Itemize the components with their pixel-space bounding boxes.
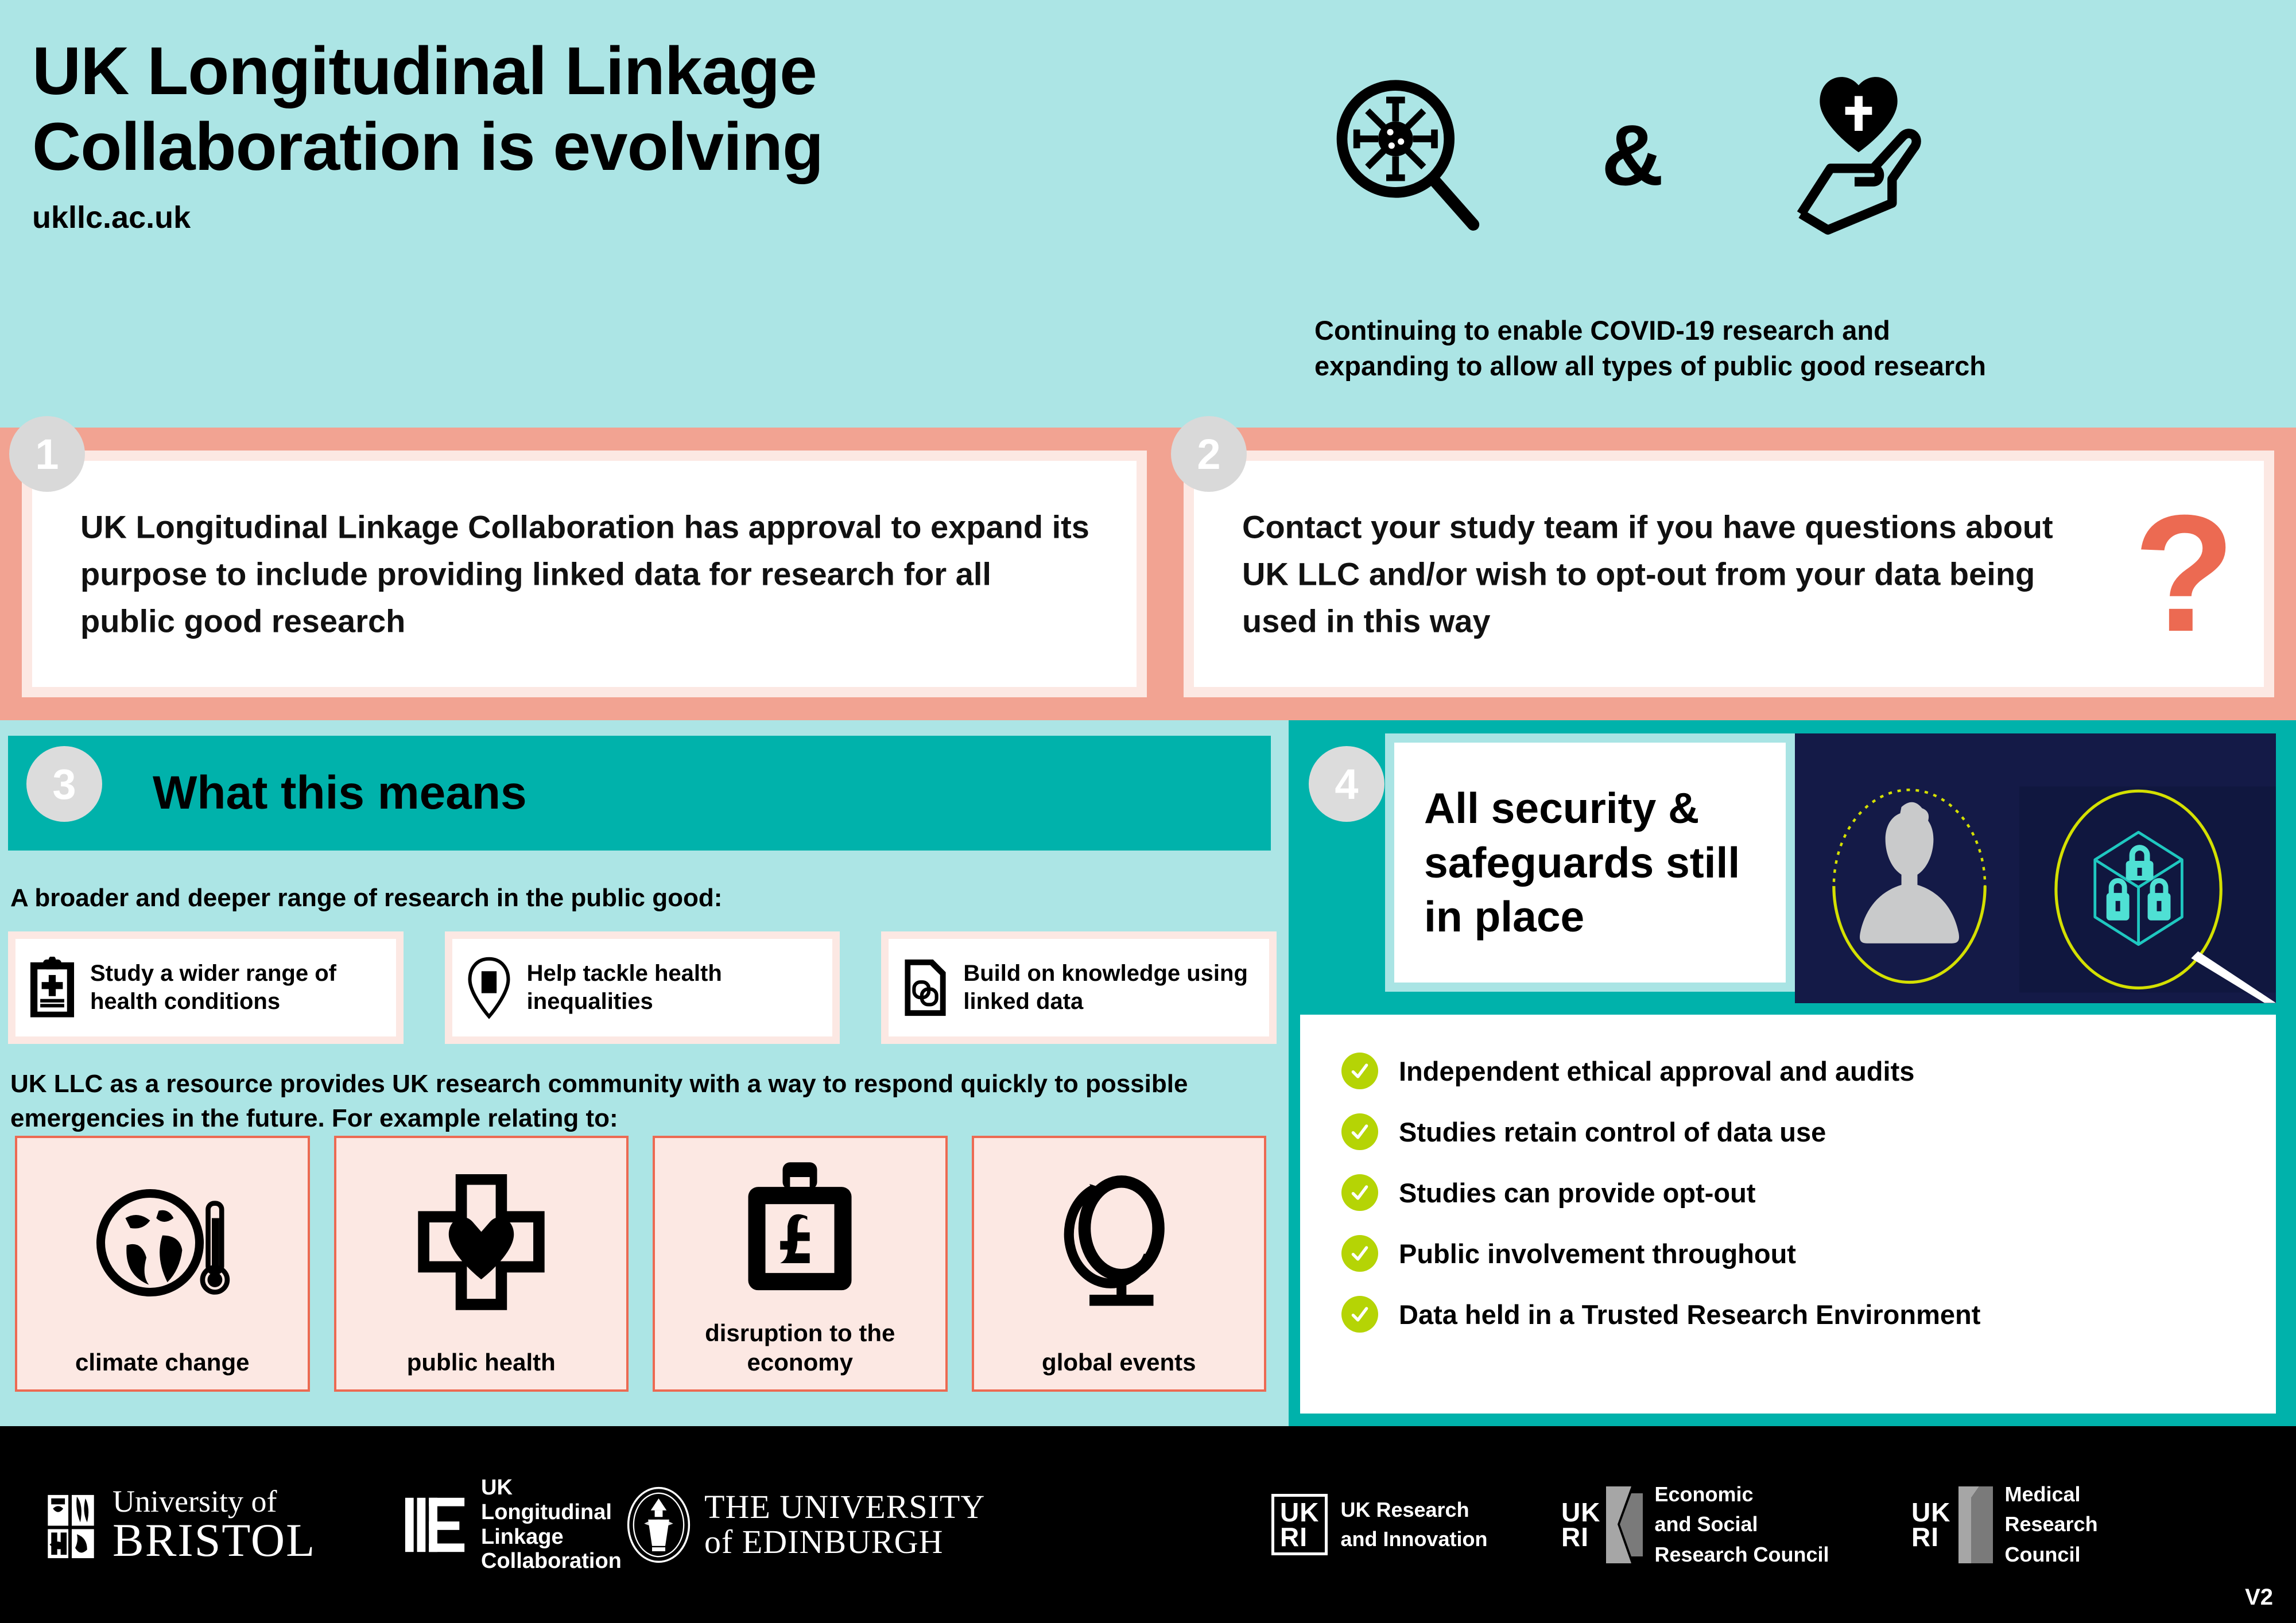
row-one-band: UK Longitudinal Linkage Collaboration ha… bbox=[0, 428, 2296, 720]
mrc-line-3: Council bbox=[2004, 1540, 2097, 1570]
footer-logo-bar: University of BRISTOL UK Longitudinal Li… bbox=[0, 1426, 2296, 1623]
list-item-label: Independent ethical approval and audits bbox=[1399, 1055, 1914, 1087]
ukri-logo: UK RI UK Research and Innovation bbox=[1271, 1426, 1487, 1623]
list-item: Studies retain control of data use bbox=[1341, 1113, 2276, 1150]
ukri-mark-top: UK bbox=[1280, 1500, 1319, 1524]
safeguard-checklist: Independent ethical approval and audits … bbox=[1300, 1015, 2276, 1414]
section-number-badge-4: 4 bbox=[1309, 746, 1384, 822]
university-of-bristol-logo: University of BRISTOL bbox=[46, 1426, 316, 1623]
esrc-mark-bottom: RI bbox=[1561, 1525, 1600, 1549]
bristol-line-1: University of bbox=[113, 1486, 316, 1517]
university-of-edinburgh-logo: THE UNIVERSITY of EDINBURGH bbox=[626, 1426, 985, 1623]
example-card: disruption to the economy bbox=[653, 1136, 948, 1392]
section-three-lead-text-2: UK LLC as a resource provides UK researc… bbox=[10, 1067, 1221, 1136]
section-four-title-frame: All security & safeguards still in place bbox=[1385, 733, 1795, 992]
benefit-card: Build on knowledge using linked data bbox=[881, 931, 1277, 1044]
esrc-logo: UK RI Economic and Social Research Counc… bbox=[1561, 1426, 1829, 1623]
section-four-title: All security & safeguards still in place bbox=[1394, 743, 1786, 983]
ukri-mark: UK RI bbox=[1271, 1494, 1328, 1555]
mrc-chevron-icon bbox=[1956, 1486, 1993, 1563]
example-card: climate change bbox=[15, 1136, 310, 1392]
virus-magnifier-icon bbox=[1314, 72, 1498, 238]
title-block: UK Longitudinal Linkage Collaboration is… bbox=[32, 33, 1238, 235]
globe-stand-icon bbox=[974, 1138, 1265, 1348]
edinburgh-line-1: THE UNIVERSITY bbox=[704, 1490, 985, 1524]
header-caption: Continuing to enable COVID-19 research a… bbox=[1314, 313, 2267, 384]
esrc-line-3: Research Council bbox=[1654, 1540, 1829, 1570]
example-card: global events bbox=[972, 1136, 1267, 1392]
section-number-badge-3: 3 bbox=[26, 746, 102, 822]
linked-document-icon bbox=[898, 957, 953, 1019]
llc-mark-icon bbox=[402, 1491, 470, 1559]
heart-in-hand-icon bbox=[1767, 72, 1950, 238]
section-four: All security & safeguards still in place bbox=[1289, 720, 2296, 1426]
page-title-line-1: UK Longitudinal Linkage bbox=[32, 33, 1238, 109]
page-title-line-2: Collaboration is evolving bbox=[32, 109, 1238, 185]
section-three-title: What this means bbox=[153, 766, 527, 820]
header-caption-line-2: expanding to allow all types of public g… bbox=[1314, 348, 2267, 384]
ukri-line-2: and Innovation bbox=[1340, 1525, 1487, 1554]
example-card-row: climate change public health bbox=[15, 1136, 1266, 1392]
list-item-label: Studies retain control of data use bbox=[1399, 1116, 1826, 1148]
mrc-logo: UK RI Medical Research Council bbox=[1911, 1426, 2098, 1623]
ukri-line-1: UK Research bbox=[1340, 1496, 1487, 1524]
section-three: What this means A broader and deeper ran… bbox=[0, 720, 1283, 1426]
mrc-mark-top: UK bbox=[1911, 1500, 1950, 1524]
mrc-mark-bottom: RI bbox=[1911, 1525, 1950, 1549]
esrc-ukri-mark: UK RI bbox=[1561, 1500, 1600, 1549]
example-label: disruption to the economy bbox=[655, 1319, 945, 1377]
check-icon bbox=[1341, 1053, 1378, 1089]
benefit-label: Study a wider range of health conditions bbox=[90, 960, 396, 1016]
security-illustration bbox=[1795, 733, 2276, 1003]
list-item: Independent ethical approval and audits bbox=[1341, 1053, 2276, 1089]
list-item-label: Data held in a Trusted Research Environm… bbox=[1399, 1299, 1980, 1330]
list-item: Data held in a Trusted Research Environm… bbox=[1341, 1296, 2276, 1333]
section-one-body: UK Longitudinal Linkage Collaboration ha… bbox=[80, 503, 1091, 644]
list-item-label: Public involvement throughout bbox=[1399, 1238, 1796, 1269]
edinburgh-line-2: of EDINBURGH bbox=[704, 1525, 985, 1559]
version-tag: V2 bbox=[2245, 1585, 2273, 1610]
section-number-badge-2: 2 bbox=[1171, 416, 1247, 492]
esrc-chevron-icon bbox=[1606, 1486, 1643, 1563]
list-item: Public involvement throughout bbox=[1341, 1235, 2276, 1272]
briefcase-pound-icon bbox=[655, 1138, 945, 1319]
benefit-label: Help tackle health inequalities bbox=[527, 960, 833, 1016]
mrc-line-2: Research bbox=[2004, 1509, 2097, 1539]
mrc-line-1: Medical bbox=[2004, 1480, 2097, 1509]
website-url[interactable]: ukllc.ac.uk bbox=[32, 200, 1238, 235]
header-caption-line-1: Continuing to enable COVID-19 research a… bbox=[1314, 313, 2267, 348]
example-label: climate change bbox=[75, 1348, 249, 1377]
example-label: public health bbox=[407, 1348, 556, 1377]
cross-heart-icon bbox=[336, 1138, 627, 1348]
list-item: Studies can provide opt-out bbox=[1341, 1174, 2276, 1211]
llc-line-2: Longitudinal bbox=[481, 1500, 622, 1525]
check-icon bbox=[1341, 1296, 1378, 1333]
section-two-body: Contact your study team if you have ques… bbox=[1242, 503, 2092, 644]
ukri-mark-bottom: RI bbox=[1280, 1525, 1319, 1549]
globe-thermometer-icon bbox=[17, 1138, 308, 1348]
page-title: UK Longitudinal Linkage Collaboration is… bbox=[32, 33, 1238, 185]
bristol-crest-icon bbox=[46, 1488, 98, 1562]
section-number-badge-1: 1 bbox=[9, 416, 85, 492]
benefit-label: Build on knowledge using linked data bbox=[963, 960, 1269, 1016]
map-pin-icon bbox=[461, 957, 517, 1019]
bristol-line-2: BRISTOL bbox=[113, 1517, 316, 1564]
check-icon bbox=[1341, 1235, 1378, 1272]
edinburgh-crest-icon bbox=[626, 1485, 692, 1564]
example-card: public health bbox=[334, 1136, 629, 1392]
mrc-ukri-mark: UK RI bbox=[1911, 1500, 1950, 1549]
question-mark-icon: ? bbox=[2134, 506, 2235, 642]
example-label: global events bbox=[1042, 1348, 1196, 1377]
llc-line-1: UK bbox=[481, 1476, 622, 1500]
clipboard-health-icon bbox=[25, 957, 80, 1019]
list-item-label: Studies can provide opt-out bbox=[1399, 1177, 1755, 1209]
esrc-line-2: and Social bbox=[1654, 1509, 1829, 1539]
esrc-line-1: Economic bbox=[1654, 1480, 1829, 1509]
ampersand-symbol: & bbox=[1601, 112, 1663, 198]
uk-llc-logo: UK Longitudinal Linkage Collaboration bbox=[402, 1426, 622, 1623]
section-one-card: UK Longitudinal Linkage Collaboration ha… bbox=[22, 451, 1147, 697]
header-icon-row: & bbox=[1314, 69, 2256, 241]
benefit-card: Study a wider range of health conditions bbox=[8, 931, 404, 1044]
section-four-hero: All security & safeguards still in place bbox=[1385, 733, 2276, 1003]
section-three-header: What this means bbox=[8, 736, 1271, 851]
section-three-lead-text: A broader and deeper range of research i… bbox=[10, 884, 1216, 913]
benefit-card-row: Study a wider range of health conditions… bbox=[8, 931, 1277, 1044]
esrc-mark-top: UK bbox=[1561, 1500, 1600, 1524]
check-icon bbox=[1341, 1174, 1378, 1211]
section-two-card: Contact your study team if you have ques… bbox=[1184, 451, 2274, 697]
benefit-card: Help tackle health inequalities bbox=[445, 931, 840, 1044]
llc-line-3: Linkage bbox=[481, 1525, 622, 1550]
check-icon bbox=[1341, 1113, 1378, 1150]
llc-line-4: Collaboration bbox=[481, 1549, 622, 1574]
header-banner: UK Longitudinal Linkage Collaboration is… bbox=[0, 0, 2296, 428]
